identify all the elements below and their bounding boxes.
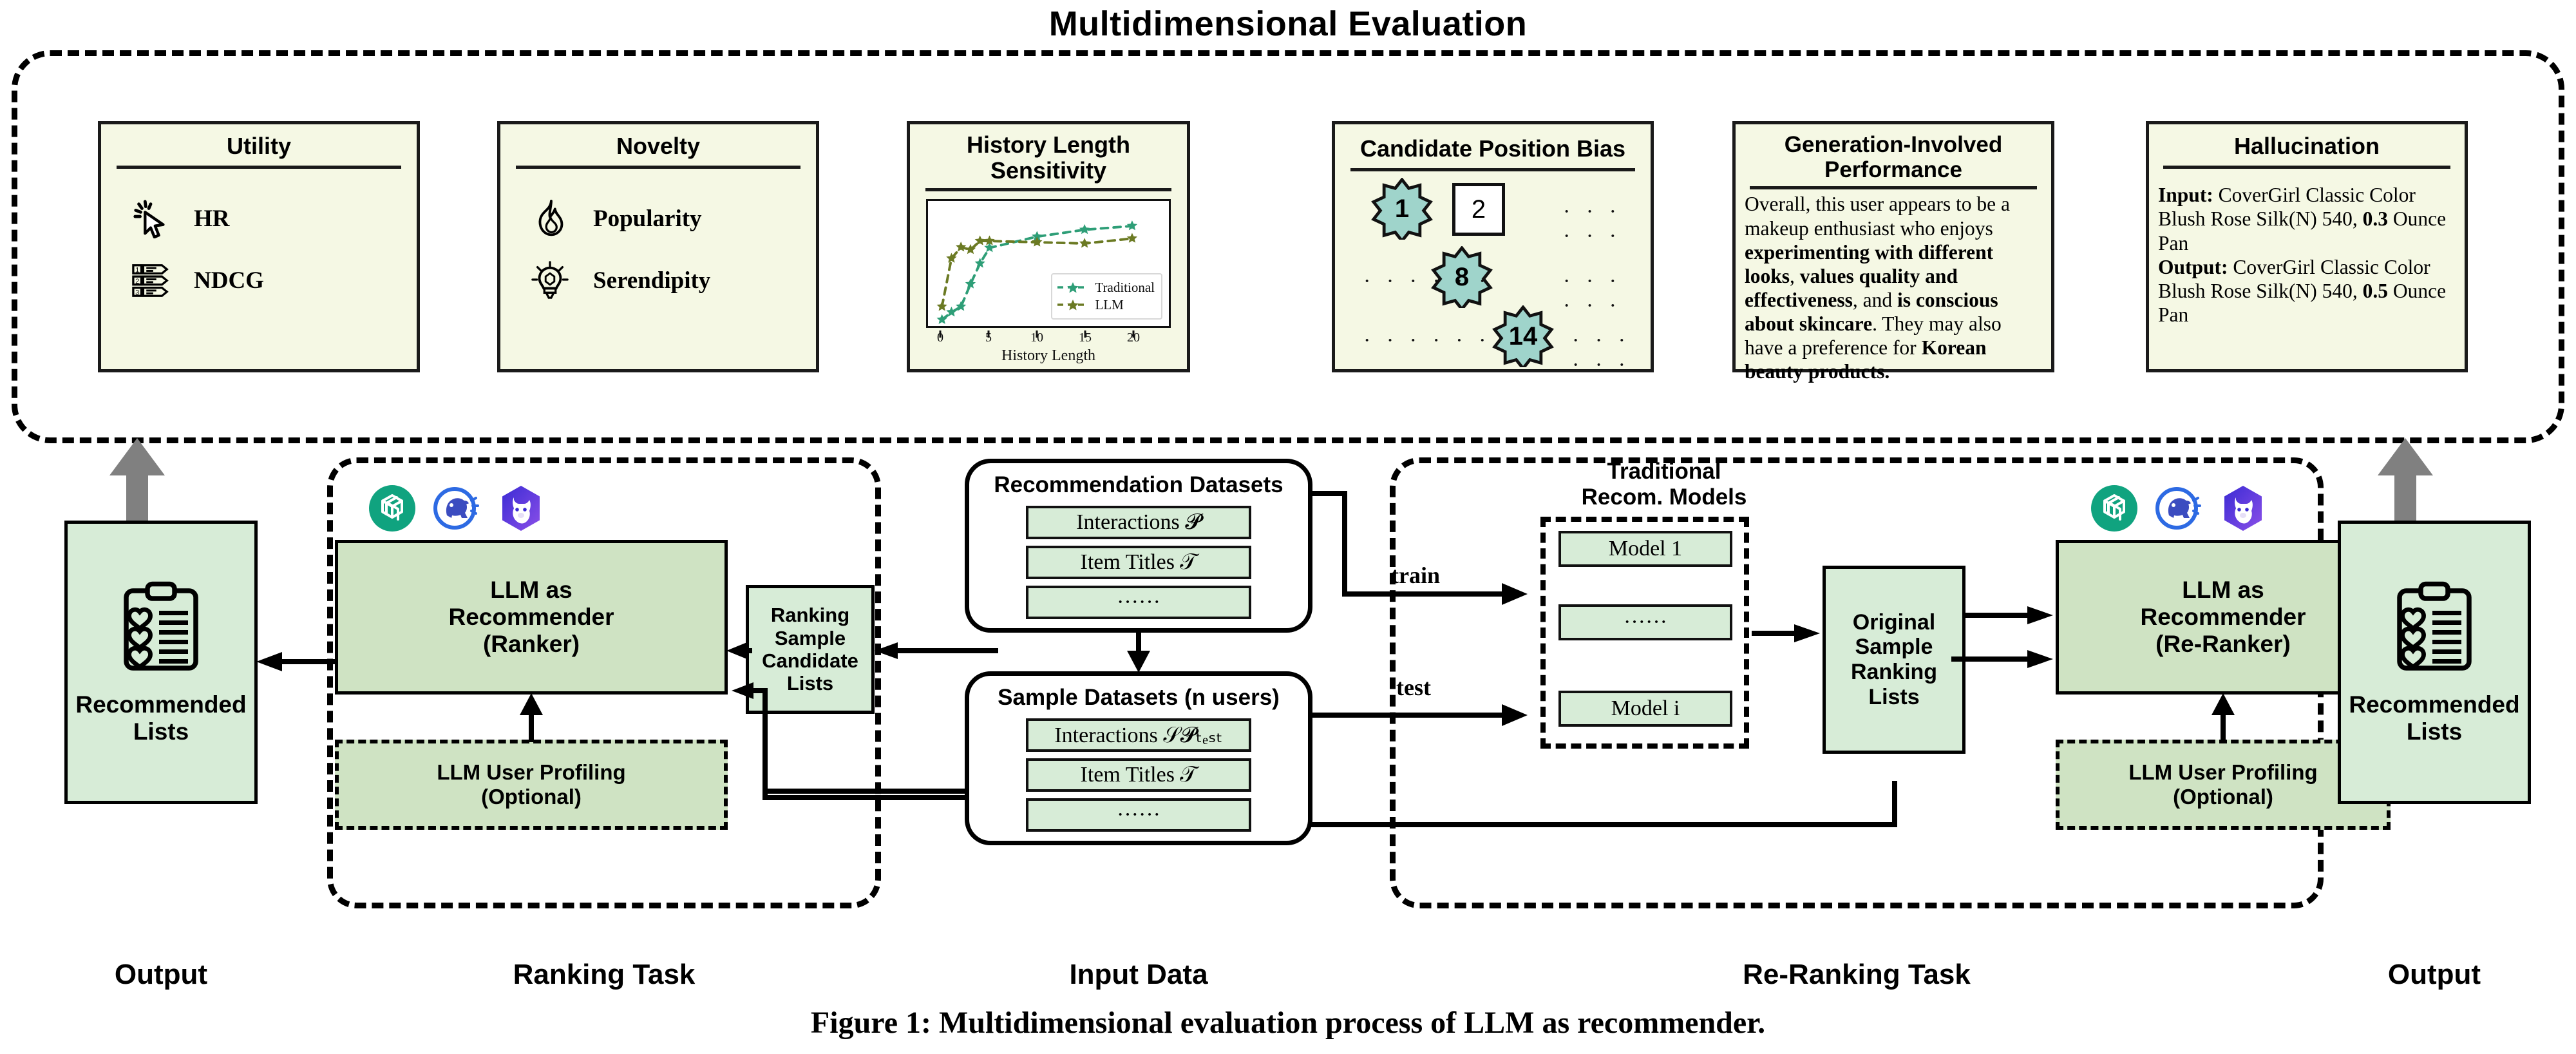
card-title-utility: Utility [111, 133, 406, 159]
clipboard-hearts-icon [113, 579, 209, 676]
candidate-badge-2-value: 2 [1472, 195, 1486, 224]
metric-label-hr: HR [194, 205, 230, 233]
page-title: Multidimensional Evaluation [0, 4, 2576, 44]
history-length-chart: Traditional LLM [926, 199, 1171, 328]
metric-label-serendipity: Serendipity [593, 267, 710, 294]
candidate-badge-1: 1 [1371, 178, 1433, 240]
candidate-position-grid: 1 2 · · · · · · 8 · · · · · · · · · · · … [1345, 175, 1640, 362]
output-left-up-arrow [108, 438, 166, 522]
xtick-5: 5 [985, 331, 992, 345]
metric-row-popularity: Popularity [530, 198, 806, 238]
metric-label-popularity: Popularity [593, 205, 702, 233]
bottom-label-ranking-task: Ranking Task [327, 959, 881, 991]
card-utility: Utility HR [98, 121, 420, 372]
chart-x-axis: 0 5 10 15 20 [926, 328, 1171, 346]
candidate-badge-1-value: 1 [1395, 195, 1409, 224]
arrow-profiling-to-ranker [518, 693, 544, 742]
card-title-candidate-position-bias: Candidate Position Bias [1345, 136, 1640, 162]
output-left-label: Recommended Lists [75, 691, 246, 745]
llm-reranker-label: LLM as Recommender (Re-Ranker) [2140, 577, 2306, 658]
ellipsis-mid-left: · · · · · · [1363, 269, 1491, 294]
sample-row-item-titles: Item Titles 𝒯 [1026, 758, 1251, 792]
card-title-hallucination: Hallucination [2158, 133, 2456, 159]
candidate-badge-14: 14 [1492, 305, 1554, 367]
output-right-box: Recommended Lists [2338, 521, 2531, 804]
recommendation-row-interactions: Interactions 𝓟 [1026, 506, 1251, 539]
arrow-profiling-input-to-reranker [1951, 649, 2056, 669]
arrow-reranker-profiling-up [2210, 693, 2236, 742]
card-title-novelty: Novelty [511, 133, 806, 159]
recommendation-row-ellipsis: ······ [1026, 586, 1251, 619]
sample-datasets-box: Sample Datasets (n users) Interactions 𝒮… [965, 671, 1312, 845]
llm-user-profiling-ranker-label: LLM User Profiling (Optional) [437, 760, 625, 809]
traditional-model-ellipsis: ······ [1558, 604, 1732, 640]
figure-caption: Figure 1: Multidimensional evaluation pr… [0, 1005, 2576, 1040]
card-divider [2163, 166, 2450, 169]
chart-legend: Traditional LLM [1051, 273, 1162, 320]
metric-row-serendipity: Serendipity [530, 260, 806, 300]
huggingface-logo-icon [2155, 484, 2202, 532]
svg-text:2: 2 [135, 278, 139, 285]
card-divider [1750, 186, 2037, 189]
legend-label-llm: LLM [1095, 297, 1123, 313]
metric-label-ndcg: NDCG [194, 267, 264, 294]
cursor-click-icon [131, 198, 171, 238]
flame-icon [530, 198, 570, 238]
candidate-badge-14-value: 14 [1509, 322, 1538, 351]
llm-ranker-box: LLM as Recommender (Ranker) [335, 540, 728, 695]
arrow-input-to-candidate [869, 641, 998, 660]
ellipsis-bottom-right: · · · · · · [1572, 329, 1640, 378]
ellipsis-bottom-left: · · · · · · [1363, 329, 1491, 353]
traditional-model-i: Model i [1558, 691, 1732, 727]
traditional-models-title: Traditional Recom. Models [1529, 459, 1799, 510]
test-label: test [1396, 674, 1431, 701]
candidate-badge-2: 2 [1452, 183, 1505, 236]
llm-user-profiling-ranker-box: LLM User Profiling (Optional) [335, 740, 728, 830]
flow-diagram: Recommended Lists [0, 445, 2576, 979]
llm-ranker-label: LLM as Recommender (Ranker) [448, 577, 614, 658]
sample-row-interactions: Interactions 𝒮𝓟ₜₑₛₜ [1026, 718, 1251, 752]
card-generation-involved-performance: Generation-Involved Performance Overall,… [1732, 121, 2054, 372]
original-sample-ranking-lists-box: Original Sample Ranking Lists [1823, 566, 1965, 754]
arrow-original-lists-to-reranker [1965, 606, 2056, 625]
bottom-label-output-right: Output [2338, 959, 2531, 991]
output-left-box: Recommended Lists [64, 521, 258, 804]
openai-logo-icon [2090, 484, 2138, 532]
ellipsis-top-right: · · · · · · [1563, 200, 1640, 249]
card-divider [516, 166, 800, 169]
ellipsis-mid-right: · · · · · · [1563, 269, 1640, 318]
bottom-label-output-left: Output [64, 959, 258, 991]
bottom-label-rerank-task: Re-Ranking Task [1390, 959, 2324, 991]
huggingface-logo-icon [433, 484, 480, 532]
legend-entry-traditional: Traditional [1056, 280, 1155, 296]
recommendation-datasets-box: Recommendation Datasets Interactions 𝓟 I… [965, 459, 1312, 633]
legend-swatch-llm [1056, 299, 1090, 311]
legend-entry-llm: LLM [1056, 297, 1155, 313]
bottom-label-input-data: Input Data [965, 959, 1312, 991]
xtick-15: 15 [1079, 331, 1092, 345]
legend-label-traditional: Traditional [1095, 280, 1155, 296]
metric-row-ndcg: 1 2 3 NDCG [131, 260, 406, 300]
candidate-badge-8-value: 8 [1455, 263, 1469, 292]
card-title-history-length: History Length Sensitivity [920, 132, 1177, 184]
xtick-0: 0 [937, 331, 943, 345]
metric-row-hr: HR [131, 198, 406, 238]
arrow-candidate-to-ranker [726, 641, 752, 660]
card-hallucination: Hallucination Input: CoverGirl Classic C… [2146, 121, 2468, 372]
chart-x-label: History Length [920, 347, 1177, 365]
card-candidate-position-bias: Candidate Position Bias 1 2 · · · · · · … [1332, 121, 1654, 372]
card-history-length-sensitivity: History Length Sensitivity [907, 121, 1190, 372]
original-sample-ranking-lists-label: Original Sample Ranking Lists [1851, 610, 1937, 710]
sample-datasets-title: Sample Datasets (n users) [986, 685, 1291, 711]
sample-row-ellipsis: ······ [1026, 798, 1251, 832]
generation-performance-text: Overall, this user appears to be a makeu… [1745, 192, 2042, 383]
svg-text:1: 1 [135, 267, 139, 274]
llm-user-profiling-reranker-label: LLM User Profiling (Optional) [2128, 760, 2317, 809]
ranked-list-icon: 1 2 3 [131, 260, 171, 300]
card-divider [925, 188, 1171, 191]
rerank-llm-logos [2090, 484, 2267, 532]
arrow-datasets-to-sample [1126, 630, 1151, 674]
openai-logo-icon [368, 484, 416, 532]
traditional-model-1: Model 1 [1558, 531, 1732, 567]
output-right-up-arrow [2376, 438, 2434, 522]
arrow-train [1311, 490, 1543, 618]
svg-text:3: 3 [135, 289, 139, 297]
lightbulb-icon [530, 260, 570, 300]
card-novelty: Novelty Popularity [497, 121, 819, 372]
llama-logo-icon [497, 484, 545, 532]
card-divider [117, 166, 401, 169]
xtick-10: 10 [1030, 331, 1043, 345]
llama-logo-icon [2219, 484, 2267, 532]
ranking-llm-logos [368, 484, 545, 532]
clipboard-hearts-icon [2386, 579, 2483, 676]
train-label: train [1391, 562, 1440, 589]
card-title-generation-performance: Generation-Involved Performance [1745, 132, 2042, 182]
recommendation-row-item-titles: Item Titles 𝒯 [1026, 546, 1251, 579]
xtick-20: 20 [1127, 331, 1140, 345]
hallucination-text: Input: CoverGirl Classic Color Blush Ros… [2158, 183, 2456, 327]
card-divider [1350, 168, 1635, 171]
recommendation-datasets-title: Recommendation Datasets [986, 472, 1291, 498]
output-right-label: Recommended Lists [2349, 691, 2519, 745]
legend-swatch-traditional [1056, 282, 1090, 293]
arrow-models-to-original-lists [1752, 624, 1823, 643]
